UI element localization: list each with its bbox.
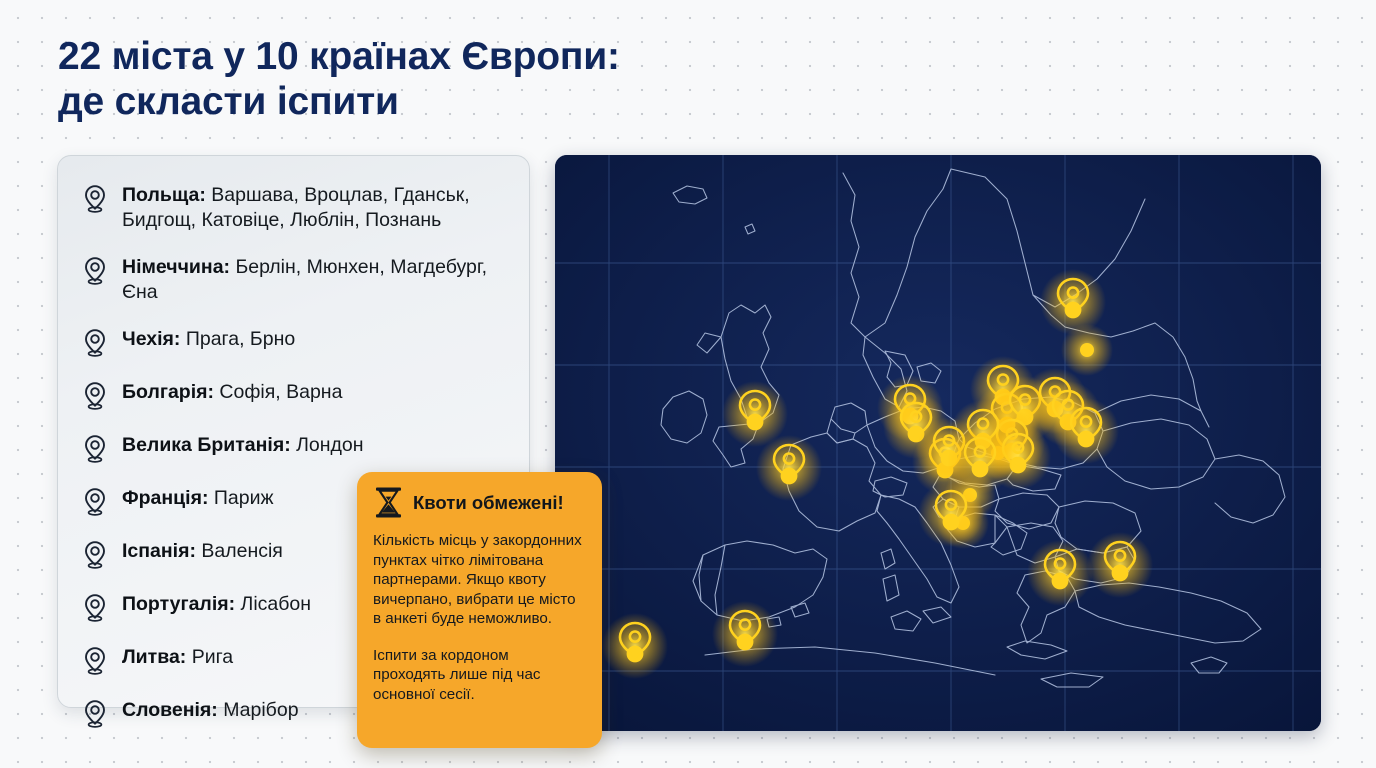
country-list-item-text: Литва: Рига xyxy=(122,644,233,670)
country-cities: Марібор xyxy=(218,699,299,721)
map-pin-icon xyxy=(82,487,108,517)
country-cities: Париж xyxy=(208,487,273,509)
country-name: Франція: xyxy=(122,487,208,509)
map-canvas xyxy=(555,155,1321,731)
map-pin-icon xyxy=(82,256,108,286)
map-pin-icon xyxy=(82,646,108,676)
country-cities: Софія, Варна xyxy=(214,381,342,403)
quota-callout-paragraph-1: Кількість місць у закордонних пунктах чі… xyxy=(373,531,584,629)
country-name: Іспанія: xyxy=(122,540,196,562)
quota-callout-paragraph-2: Іспити за кордоном проходять лише під ча… xyxy=(373,646,584,705)
country-list-item-text: Польща: Варшава, Вроцлав, Гданськ, Бидго… xyxy=(122,182,509,233)
map-glow-dot-core xyxy=(1080,343,1094,357)
country-name: Словенія: xyxy=(122,699,218,721)
country-list-item: Велика Британія: Лондон xyxy=(82,432,509,464)
quota-callout: Квоти обмежені! Кількість місць у закорд… xyxy=(357,472,602,748)
country-cities: Прага, Брно xyxy=(180,328,295,350)
country-cities: Лісабон xyxy=(235,593,311,615)
country-list-item-text: Болгарія: Софія, Варна xyxy=(122,379,342,405)
country-name: Польща: xyxy=(122,184,206,206)
map-pin-icon xyxy=(82,699,108,729)
country-name: Велика Британія: xyxy=(122,434,291,456)
country-list-item-text: Німеччина: Берлін, Мюнхен, Магдебург, Єн… xyxy=(122,254,509,305)
map-pin-icon xyxy=(82,540,108,570)
page-title: 22 міста у 10 країнах Європи: де скласти… xyxy=(58,34,818,124)
country-name: Португалія: xyxy=(122,593,235,615)
country-list-item-text: Португалія: Лісабон xyxy=(122,591,311,617)
country-list-item: Чехія: Прага, Брно xyxy=(82,326,509,358)
country-list-item-text: Чехія: Прага, Брно xyxy=(122,326,295,352)
country-list-item: Польща: Варшава, Вроцлав, Гданськ, Бидго… xyxy=(82,182,509,233)
country-name: Чехія: xyxy=(122,328,180,350)
country-cities: Валенсія xyxy=(196,540,283,562)
map-pin-icon xyxy=(82,593,108,623)
map-pin-icon xyxy=(82,328,108,358)
quota-callout-header: Квоти обмежені! xyxy=(373,486,584,519)
page-title-line-2: де скласти іспити xyxy=(58,79,818,124)
map-pin-icon xyxy=(82,184,108,214)
country-list-item-text: Іспанія: Валенсія xyxy=(122,538,283,564)
country-cities: Лондон xyxy=(291,434,364,456)
country-name: Болгарія: xyxy=(122,381,214,403)
quota-callout-title: Квоти обмежені! xyxy=(413,492,564,514)
country-list-item-text: Велика Британія: Лондон xyxy=(122,432,364,458)
europe-map[interactable] xyxy=(555,155,1321,731)
hourglass-icon xyxy=(373,486,404,519)
map-pin-icon xyxy=(82,434,108,464)
page-title-line-1: 22 міста у 10 країнах Європи: xyxy=(58,34,818,79)
country-list-item: Німеччина: Берлін, Мюнхен, Магдебург, Єн… xyxy=(82,254,509,305)
country-list-item-text: Словенія: Марібор xyxy=(122,697,299,723)
country-name: Німеччина: xyxy=(122,256,230,278)
country-list-item-text: Франція: Париж xyxy=(122,485,274,511)
map-pin-icon xyxy=(82,381,108,411)
country-cities: Рига xyxy=(186,646,233,668)
country-list-item: Болгарія: Софія, Варна xyxy=(82,379,509,411)
country-name: Литва: xyxy=(122,646,186,668)
